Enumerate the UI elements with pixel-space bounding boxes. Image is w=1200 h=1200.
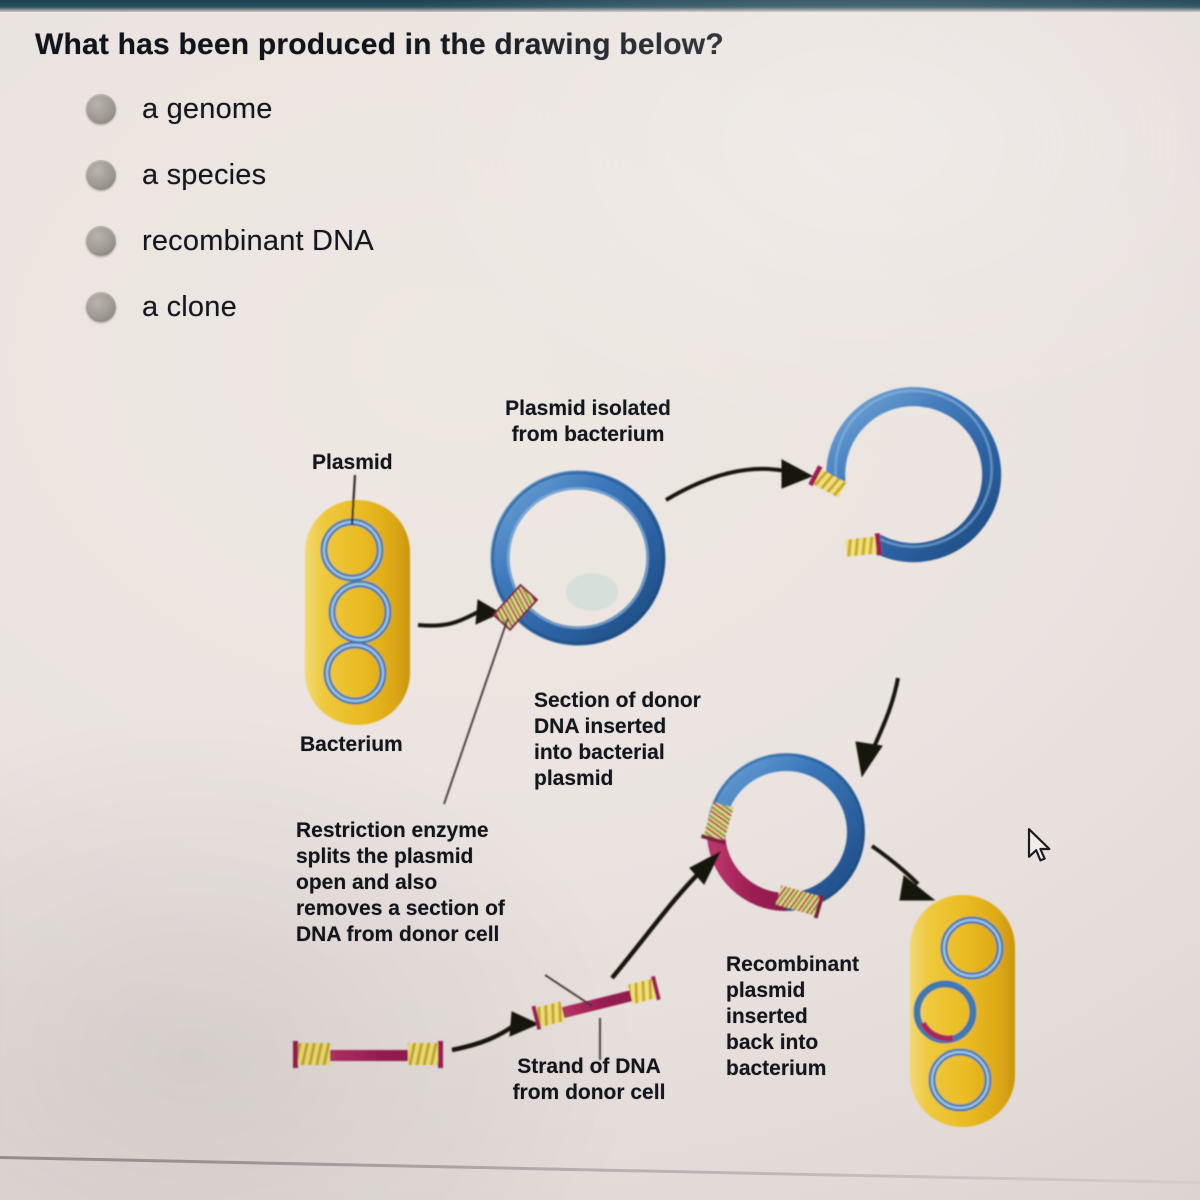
recombinant-plasmid-shape (701, 755, 863, 919)
radio-button-recombinant-dna[interactable] (86, 226, 116, 256)
donor-dna-strand-shape (293, 1041, 443, 1068)
option-label-genome: a genome (142, 93, 273, 126)
plasmid-opened-shape (808, 391, 991, 559)
option-row-species[interactable]: a species (86, 142, 786, 208)
label-donor-dna-inserted: Section of donor DNA inserted into bacte… (534, 688, 701, 792)
arrow-strand-to-recombinant (452, 1012, 538, 1050)
leader-restriction-enzyme (444, 618, 508, 804)
answer-options-list: a genome a species recombinant DNA a clo… (86, 76, 786, 340)
option-row-recombinant-dna[interactable]: recombinant DNA (86, 208, 786, 274)
label-recombinant-inserted: Recombinant plasmid inserted back into b… (726, 952, 859, 1082)
page-title: What has been produced in the drawing be… (35, 28, 724, 62)
screen-photo: What has been produced in the drawing be… (0, 0, 1200, 1200)
radio-button-genome[interactable] (86, 94, 116, 124)
bacterium-left-shape (305, 475, 410, 725)
plasmid-isolated-shape (493, 473, 663, 643)
arrow-recombinant-to-bacterium (872, 846, 934, 900)
label-bacterium: Bacterium (300, 732, 403, 758)
window-top-band-highlight (0, 8, 1200, 12)
bacterium-right-shape (910, 895, 1015, 1127)
recombinant-dna-diagram: Plasmid Plasmid isolated from bacterium … (0, 360, 1200, 1160)
arrow-bacterium-to-plasmid (418, 600, 500, 626)
option-row-clone[interactable]: a clone (86, 274, 786, 340)
arrow-opened-to-recombinant (856, 678, 898, 776)
option-row-genome[interactable]: a genome (86, 76, 786, 142)
mouse-pointer-icon (1026, 828, 1056, 864)
option-label-recombinant-dna: recombinant DNA (142, 225, 374, 258)
label-restriction-enzyme: Restriction enzyme splits the plasmid op… (296, 818, 505, 948)
radio-button-clone[interactable] (86, 292, 116, 322)
arrow-plasmid-to-opened (666, 460, 812, 500)
option-label-species: a species (142, 159, 266, 192)
label-strand-of-dna: Strand of DNA from donor cell (494, 1054, 684, 1106)
option-label-clone: a clone (142, 291, 237, 324)
monitor-edge-line (0, 1156, 1200, 1184)
label-plasmid: Plasmid (312, 450, 393, 476)
arrow-fragment-to-plasmid (612, 852, 720, 978)
label-plasmid-isolated: Plasmid isolated from bacterium (478, 396, 698, 448)
leader-cut-fragment (545, 975, 592, 1006)
donor-dna-fragment-shape (532, 976, 661, 1030)
radio-button-species[interactable] (86, 160, 116, 190)
